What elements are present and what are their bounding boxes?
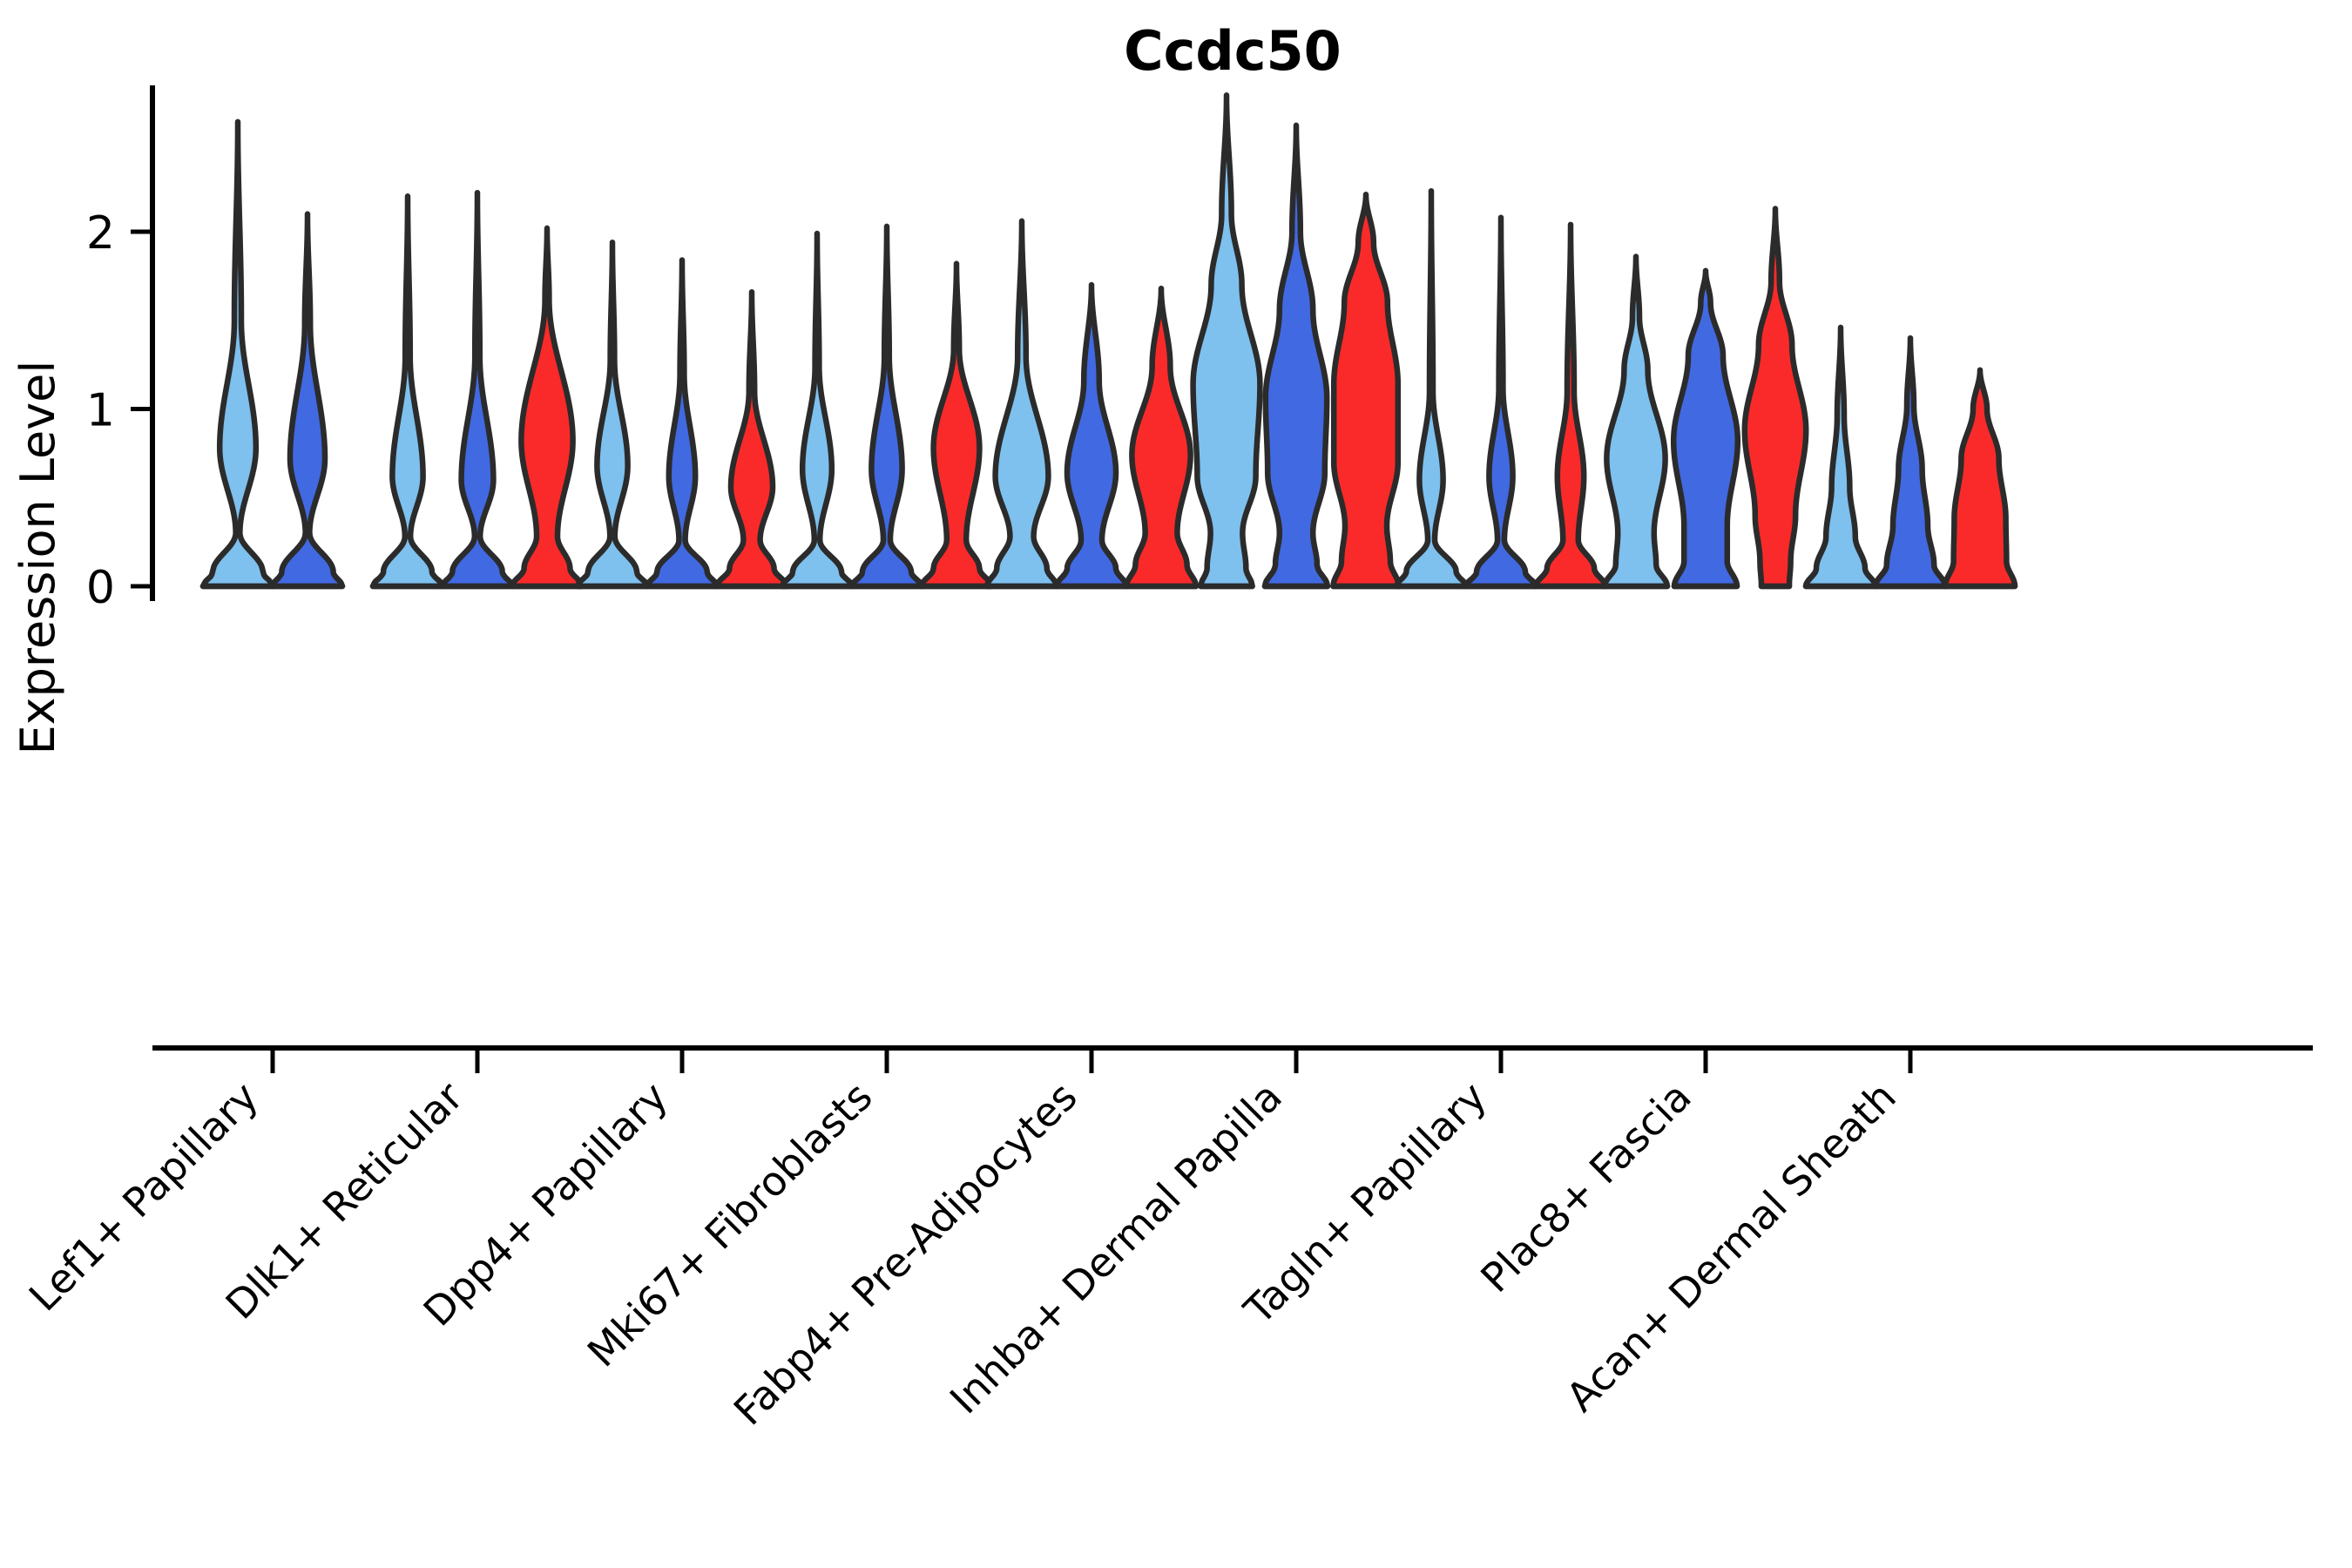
- y-tick-label: 1: [86, 385, 115, 437]
- y-tick-label: 0: [86, 562, 115, 614]
- violin-plot-figure: Ccdc50 Expression Level 012 Lef1+ Papill…: [0, 0, 2352, 1568]
- y-tick-label: 2: [86, 207, 115, 260]
- chart-title: Ccdc50: [1124, 19, 1342, 83]
- figure-background: [0, 0, 2352, 1568]
- y-axis-label: Expression Level: [10, 361, 65, 755]
- chart-canvas: Ccdc50 Expression Level 012 Lef1+ Papill…: [0, 0, 2352, 1568]
